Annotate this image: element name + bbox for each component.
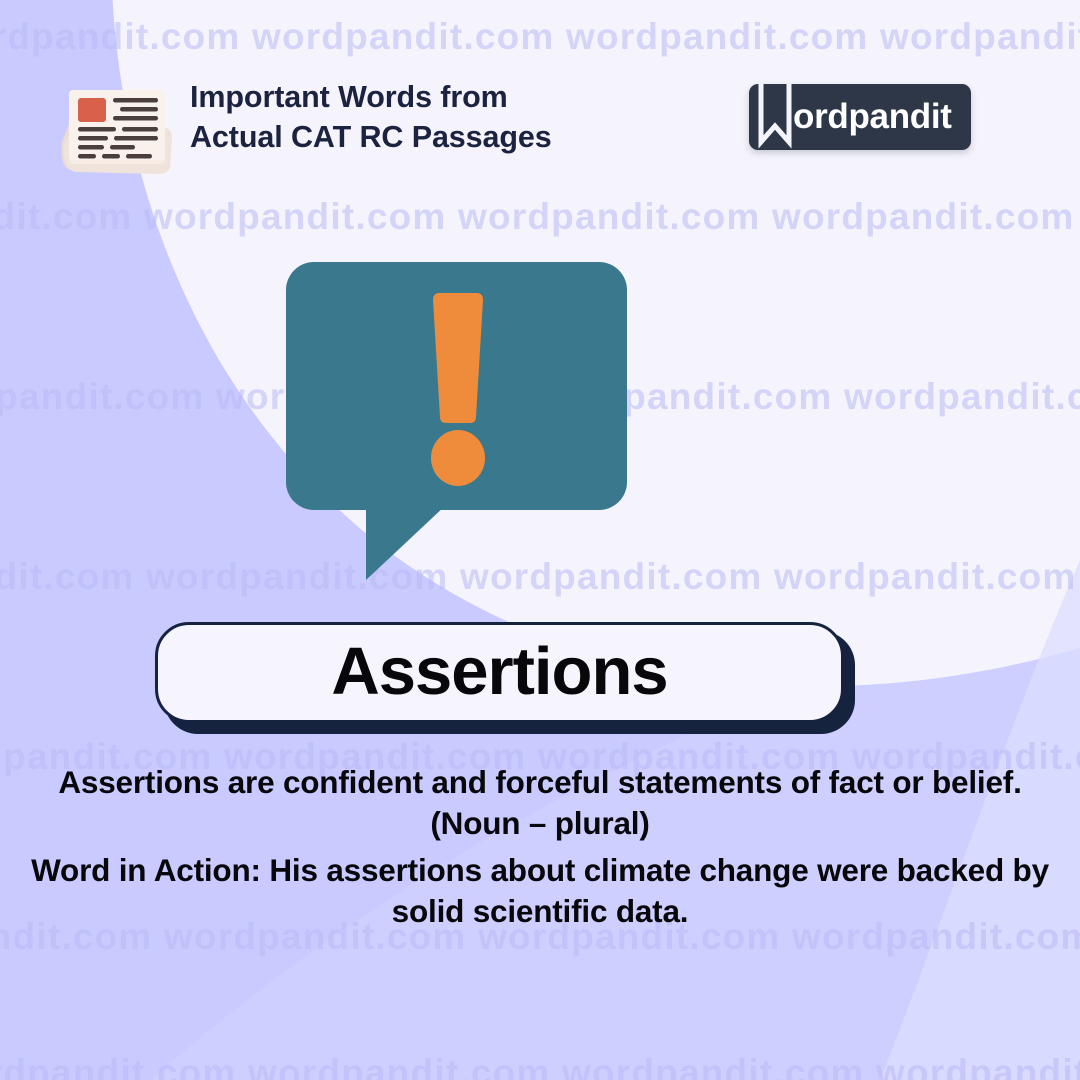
- page-title-line-2: Actual CAT RC Passages: [190, 118, 552, 158]
- word-badge: Assertions: [155, 622, 855, 734]
- exclamation-dot: [431, 430, 485, 486]
- wordpandit-logo[interactable]: ordpandit: [749, 84, 971, 150]
- brand-name-label: ordpandit: [793, 84, 952, 150]
- newspaper-icon: [52, 70, 180, 180]
- page-title-line-1: Important Words from: [190, 80, 508, 114]
- speech-bubble-exclamation-icon: [286, 262, 634, 584]
- word-usage-example: Word in Action: His assertions about cli…: [22, 850, 1058, 931]
- word-badge-frame: Assertions: [155, 622, 844, 723]
- speech-bubble-tail: [366, 505, 446, 580]
- page-title: Important Words from Actual CAT RC Passa…: [190, 78, 552, 157]
- word-definition: Assertions are confident and forceful st…: [20, 762, 1060, 843]
- exclamation-bar: [433, 293, 483, 423]
- headword-label: Assertions: [331, 638, 667, 705]
- poster-canvas: wordpandit.com wordpandit.com wordpandit…: [0, 0, 1080, 1080]
